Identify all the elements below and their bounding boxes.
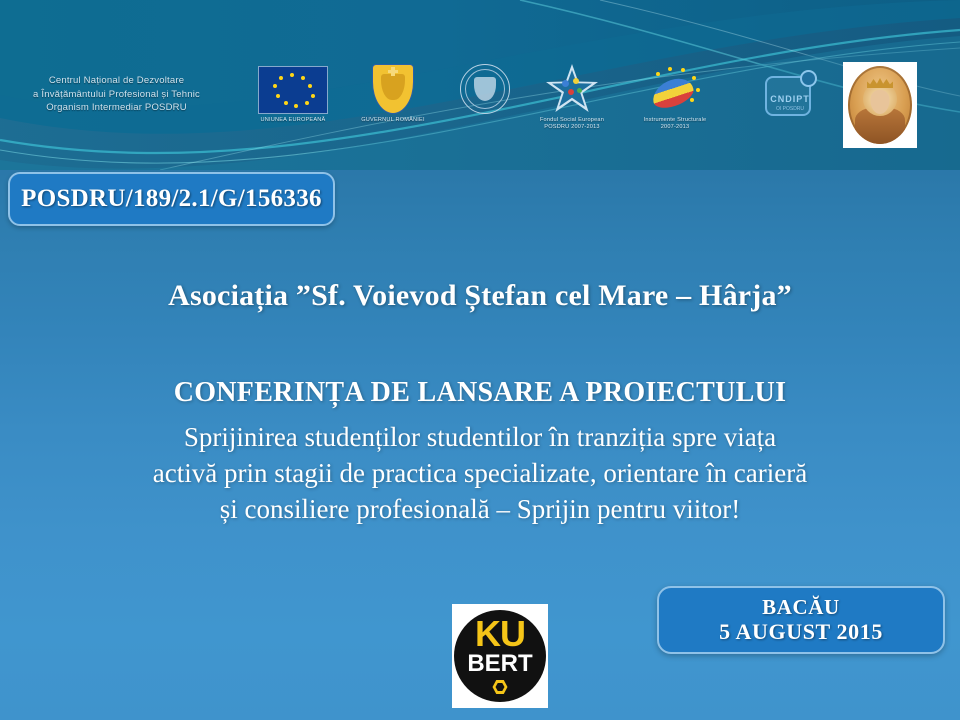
event-date: 5 AUGUST 2015 [719, 619, 883, 645]
conference-title: CONFERINȚA DE LANSARE A PROIECTULUI [0, 377, 960, 409]
project-description-line-3: și consiliere profesională – Sprijin pen… [28, 491, 932, 527]
coat-of-arms-caption: GUVERNUL ROMÂNIEI [348, 117, 438, 124]
fse-star-logo: Fondul Social European POSDRU 2007-2013 [520, 64, 624, 131]
eu-flag-caption: UNIUNEA EUROPEANĂ [248, 117, 338, 124]
event-location-date-badge[interactable]: BACĂU 5 AUGUST 2015 [657, 586, 945, 654]
fse-star-icon [546, 64, 598, 114]
project-code-badge[interactable]: POSDRU/189/2.1/G/156336 [8, 172, 335, 226]
presentation-slide: Centrul Național de Dezvoltare a Învățăm… [0, 0, 960, 720]
cndipt-icon: CNDIPT OI POSDRU [761, 70, 819, 122]
instrumente-structurale-icon [644, 64, 706, 114]
cndipt-wordmark: CNDIPT [761, 94, 819, 104]
romanian-coat-of-arms-logo: GUVERNUL ROMÂNIEI [348, 64, 438, 124]
government-seal-logo [440, 64, 530, 117]
project-code-label: POSDRU/189/2.1/G/156336 [21, 185, 322, 213]
saint-stefan-icon-portrait [843, 62, 917, 148]
instrumente-structurale-logo: Instrumente Structurale 2007-2013 [623, 64, 727, 131]
instrumente-caption-line-2: 2007-2013 [623, 124, 727, 131]
event-city: BACĂU [762, 595, 840, 619]
organism-caption-line-1: Centrul Național de Dezvoltare [14, 74, 219, 88]
eu-flag-icon [258, 66, 328, 114]
eu-flag-logo: UNIUNEA EUROPEANĂ [248, 66, 338, 124]
cndipt-logo: CNDIPT OI POSDRU [740, 70, 840, 122]
project-description-line-2: activă prin stagii de practica specializ… [28, 455, 932, 491]
government-seal-icon [460, 64, 510, 114]
cndipt-subtitle: OI POSDRU [761, 106, 819, 112]
kubert-logo: KU BERT [452, 604, 548, 708]
instrumente-caption-line-1: Instrumente Structurale [623, 117, 727, 124]
organism-intermediar-caption: Centrul Național de Dezvoltare a Învățăm… [14, 74, 219, 115]
fse-caption-line-2: POSDRU 2007-2013 [520, 124, 624, 131]
kubert-logo-text-bottom: BERT [452, 652, 548, 676]
coat-of-arms-icon [372, 64, 414, 114]
organism-caption-line-2: a Învățământului Profesional și Tehnic [14, 88, 219, 102]
project-description-line-1: Sprijinirea studenților studentilor în t… [28, 419, 932, 455]
kubert-logo-text-top: KU [452, 618, 548, 650]
association-title: Asociația ”Sf. Voievod Ștefan cel Mare –… [0, 279, 960, 313]
project-description: Sprijinirea studenților studentilor în t… [28, 419, 932, 527]
fse-caption-line-1: Fondul Social European [520, 117, 624, 124]
organism-caption-line-3: Organism Intermediar POSDRU [14, 101, 219, 115]
